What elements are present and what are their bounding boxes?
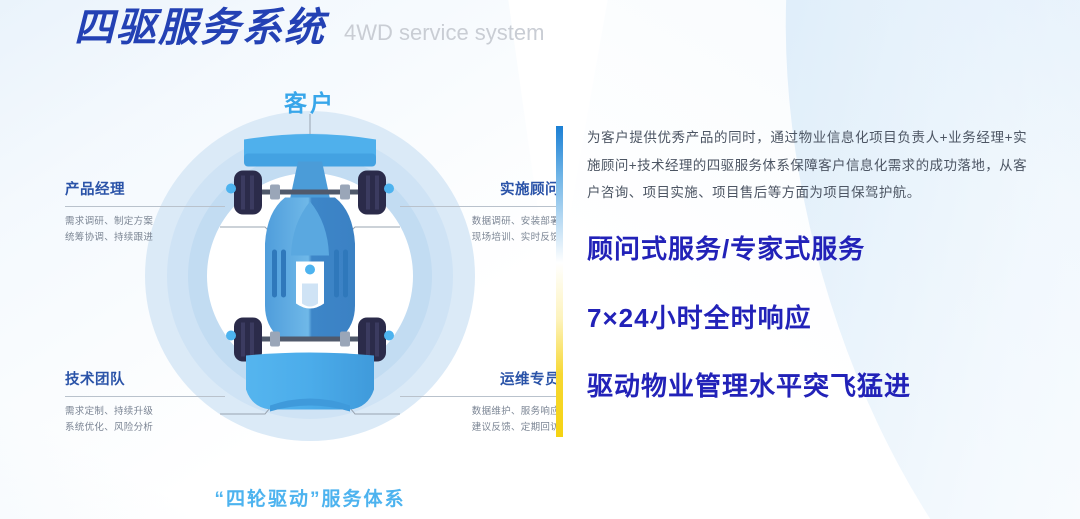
node-product-manager[interactable]: 产品经理 需求调研、制定方案 统筹协调、持续跟进 [65,182,225,245]
wheel-rear-left-tread2 [250,323,254,357]
wheel-front-right [358,171,386,215]
node-technical-team-rule [65,396,225,397]
highlight-item-3: 驱动物业管理水平突飞猛进 [587,372,1027,401]
race-car-svg [210,124,410,424]
car-rear-left-hub [270,332,280,347]
node-operations-specialist[interactable]: 运维专员 数据维护、服务响应 建议反馈、定期回访 [400,372,560,435]
node-technical-team-desc-2: 系统优化、风险分析 [65,420,225,435]
car-vent-right-1 [334,250,339,298]
wheel-rear-right-tread [366,323,370,357]
highlight-list: 顾问式服务/专家式服务 7×24小时全时响应 驱动物业管理水平突飞猛进 [587,235,1027,401]
car-vent-right-2 [343,250,348,298]
node-implementation-consultant-rule [400,206,560,207]
wheel-front-left-tread2 [250,176,254,210]
car-cockpit-seat [302,284,318,307]
highlight-item-2: 7×24小时全时响应 [587,304,1027,333]
car-nose [289,162,331,204]
node-implementation-consultant-title: 实施顾问 [400,182,560,199]
node-implementation-consultant[interactable]: 实施顾问 数据调研、安装部署 现场培训、实时反馈 [400,182,560,245]
wheel-front-right-tread [366,176,370,210]
car-vent-left-2 [281,250,286,298]
four-wheel-drive-diagram: 客户 产品经理 需求调研、制定方案 统筹协调、持续跟进 实施顾问 数据调研、安装… [60,62,560,517]
node-operations-specialist-desc-2: 建议反馈、定期回访 [400,420,560,435]
page-title-cn: 四驱服务系统 [74,8,326,48]
node-operations-specialist-rule [400,396,560,397]
node-product-manager-rule [65,206,225,207]
wheel-front-left [234,171,262,215]
wheel-rear-right-dot [384,331,394,341]
wheel-rear-left-tread [241,323,245,357]
car-front-right-hub [340,185,350,200]
car-vent-left-1 [272,250,277,298]
page-header: 四驱服务系统 4WD service system [74,8,544,48]
wheel-rear-left-dot [226,331,236,341]
page-title-en: 4WD service system [344,21,544,48]
car-rear-right-hub [340,332,350,347]
wheel-front-right-dot [384,184,394,194]
node-technical-team-title: 技术团队 [65,372,225,389]
node-product-manager-desc-2: 统筹协调、持续跟进 [65,230,225,245]
diagram-caption: “四轮驱动”服务体系 [60,484,560,511]
description-paragraph: 为客户提供优秀产品的同时，通过物业信息化项目负责人+业务经理+实施顾问+技术经理… [587,124,1027,207]
node-operations-specialist-desc-1: 数据维护、服务响应 [400,404,560,419]
car-cockpit-helmet [305,265,315,275]
wheel-front-left-dot [226,184,236,194]
accent-gradient-bar [556,126,563,437]
node-operations-specialist-title: 运维专员 [400,372,560,389]
car-front-left-hub [270,185,280,200]
slide-root: 四驱服务系统 4WD service system [0,0,1080,519]
node-product-manager-desc-1: 需求调研、制定方案 [65,214,225,229]
race-car-illustration [210,124,410,429]
node-technical-team[interactable]: 技术团队 需求定制、持续升级 系统优化、风险分析 [65,372,225,435]
wheel-rear-right-tread2 [375,323,379,357]
node-implementation-consultant-desc-2: 现场培训、实时反馈 [400,230,560,245]
node-technical-team-desc-1: 需求定制、持续升级 [65,404,225,419]
wheel-front-left-tread [241,176,245,210]
node-product-manager-title: 产品经理 [65,182,225,199]
node-implementation-consultant-desc-1: 数据调研、安装部署 [400,214,560,229]
diagram-center-label: 客户 [60,84,560,118]
right-content-panel: 为客户提供优秀产品的同时，通过物业信息化项目负责人+业务经理+实施顾问+技术经理… [587,124,1027,401]
highlight-item-1: 顾问式服务/专家式服务 [587,235,1027,264]
wheel-front-right-tread2 [375,176,379,210]
